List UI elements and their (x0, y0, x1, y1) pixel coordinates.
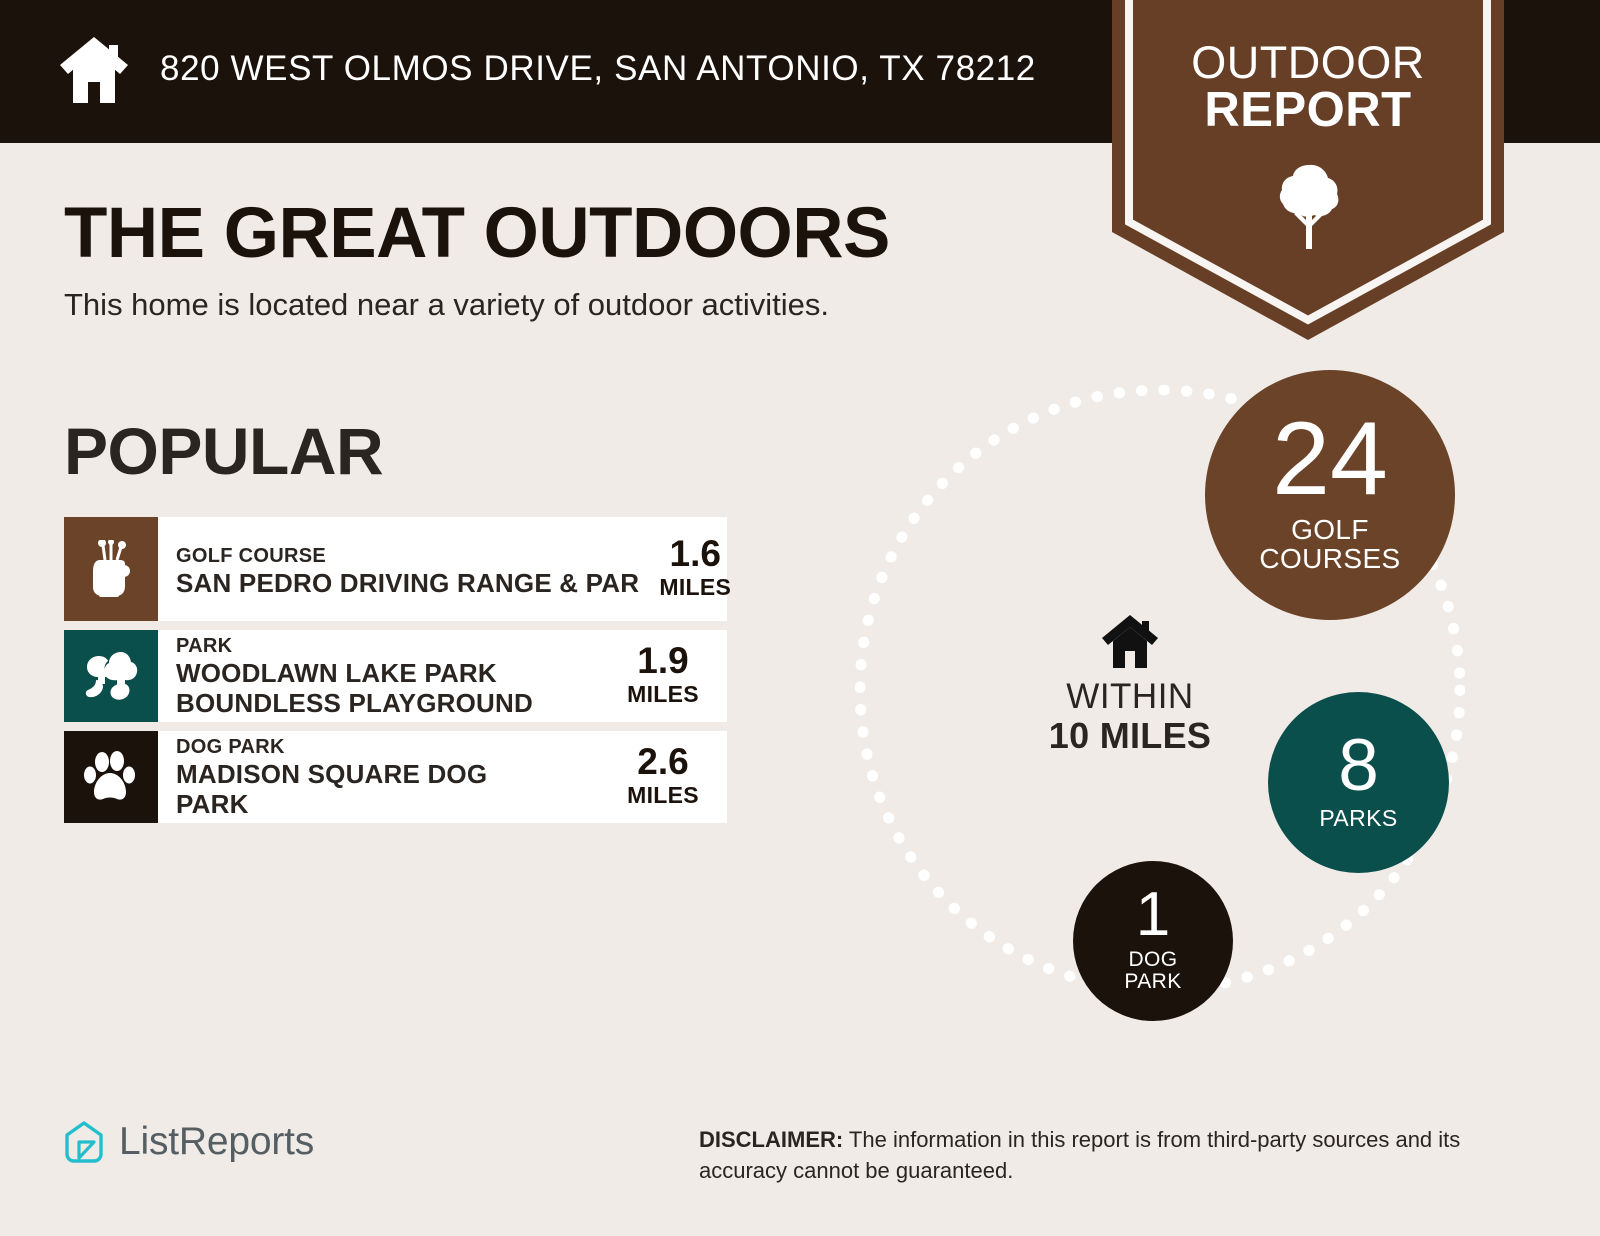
home-icon (57, 35, 131, 105)
listreports-house-icon (63, 1120, 105, 1164)
stat-label: GOLF COURSES (1259, 515, 1400, 574)
poi-distance-unit: MILES (659, 572, 731, 603)
poi-category: GOLF COURSE (176, 544, 639, 569)
poi-icon-box (64, 630, 158, 722)
poi-distance-unit: MILES (627, 679, 699, 710)
poi-text: GOLF COURSE SAN PEDRO DRIVING RANGE & PA… (158, 517, 639, 621)
paw-print-icon (83, 749, 139, 805)
poi-distance-value: 1.9 (637, 642, 688, 679)
golf-bag-icon (86, 540, 136, 598)
poi-category: DOG PARK (176, 735, 607, 760)
stat-circle-dog-park: 1 DOG PARK (1073, 861, 1233, 1021)
poi-distance-value: 1.6 (670, 535, 721, 572)
stat-circle-golf-courses: 24 GOLF COURSES (1205, 370, 1455, 620)
page-title: THE GREAT OUTDOORS (64, 193, 890, 274)
poi-distance: 1.9 MILES (607, 630, 727, 722)
stat-label: PARKS (1319, 806, 1397, 830)
park-tree-icon (83, 650, 139, 702)
stat-label-line1: DOG (1128, 948, 1177, 971)
stat-value: 1 (1136, 886, 1170, 945)
outdoor-report-badge: OUTDOOR REPORT (1112, 0, 1504, 340)
stat-value: 24 (1272, 410, 1388, 509)
stat-value: 8 (1338, 731, 1379, 800)
stat-label-line2: COURSES (1259, 543, 1400, 574)
poi-icon-box (64, 517, 158, 621)
poi-name: WOODLAWN LAKE PARK BOUNDLESS PLAYGROUND (176, 659, 576, 717)
brand-logo[interactable]: ListReports (63, 1120, 314, 1164)
poi-distance-unit: MILES (627, 780, 699, 811)
poi-text: DOG PARK MADISON SQUARE DOG PARK (158, 731, 607, 823)
home-icon (1100, 613, 1160, 669)
page-subtitle: This home is located near a variety of o… (64, 287, 829, 323)
list-item[interactable]: DOG PARK MADISON SQUARE DOG PARK 2.6 MIL… (64, 731, 727, 823)
property-address: 820 WEST OLMOS DRIVE, SAN ANTONIO, TX 78… (160, 49, 1036, 89)
poi-distance: 2.6 MILES (607, 731, 727, 823)
poi-text: PARK WOODLAWN LAKE PARK BOUNDLESS PLAYGR… (158, 630, 607, 722)
stat-label: DOG PARK (1124, 949, 1181, 994)
center-line1: WITHIN (1010, 677, 1250, 716)
stat-label-line1: GOLF (1291, 514, 1369, 545)
poi-name: MADISON SQUARE DOG PARK (176, 760, 546, 818)
poi-distance: 1.6 MILES (639, 517, 759, 621)
tree-icon (1278, 163, 1340, 251)
poi-category: PARK (176, 634, 607, 659)
disclaimer: DISCLAIMER: The information in this repo… (699, 1124, 1511, 1186)
orbit-center-label: WITHIN 10 MILES (1010, 613, 1250, 757)
popular-list: GOLF COURSE SAN PEDRO DRIVING RANGE & PA… (64, 517, 727, 832)
center-line2: 10 MILES (1010, 716, 1250, 756)
list-item[interactable]: GOLF COURSE SAN PEDRO DRIVING RANGE & PA… (64, 517, 727, 621)
disclaimer-label: DISCLAIMER: (699, 1127, 843, 1152)
poi-name: SAN PEDRO DRIVING RANGE & PAR (176, 569, 639, 598)
stat-label-line2: PARK (1124, 970, 1181, 993)
list-item[interactable]: PARK WOODLAWN LAKE PARK BOUNDLESS PLAYGR… (64, 630, 727, 722)
section-title-popular: POPULAR (64, 413, 383, 489)
stat-circle-parks: 8 PARKS (1268, 692, 1449, 873)
poi-distance-value: 2.6 (637, 743, 688, 780)
brand-name: ListReports (119, 1120, 314, 1164)
poi-icon-box (64, 731, 158, 823)
